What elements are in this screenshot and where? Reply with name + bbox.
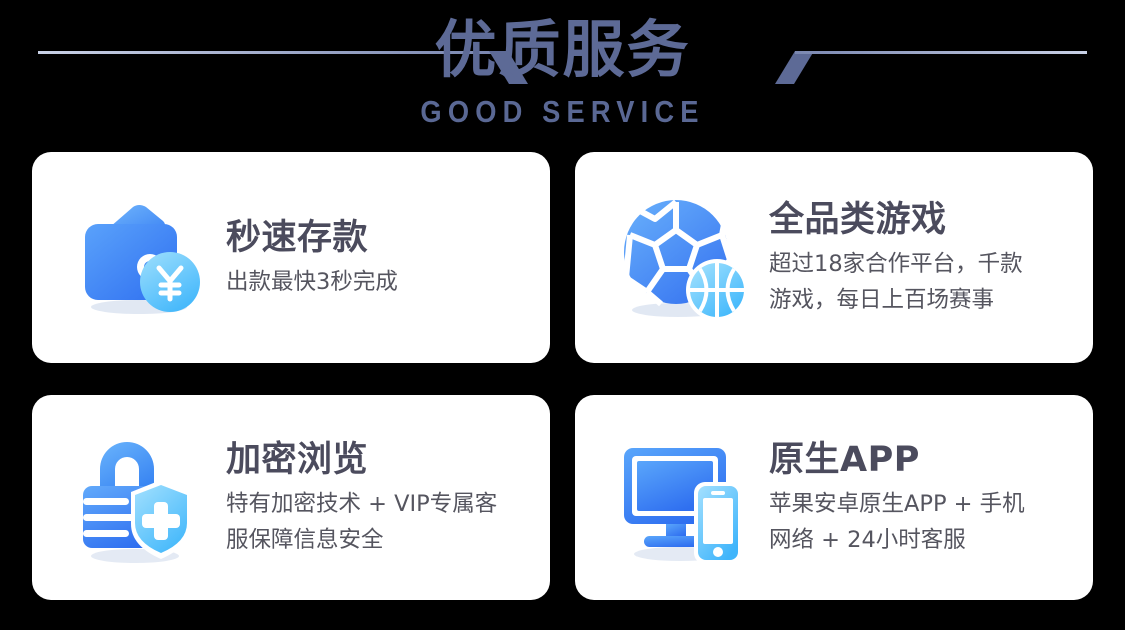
- header-title-block: 优质服务 GOOD SERVICE: [0, 0, 1125, 131]
- card-subtitle-line: 游戏，每日上百场赛事: [769, 282, 1079, 318]
- card-title: 原生APP: [769, 437, 1079, 483]
- card-subtitle: 超过18家合作平台，千款 游戏，每日上百场赛事: [769, 246, 1079, 318]
- page-header: 优质服务 GOOD SERVICE: [0, 0, 1125, 146]
- card-text-block: 加密浏览 特有加密技术 + VIP专属客 服保障信息安全: [218, 437, 550, 558]
- lock-shield-icon: [68, 423, 218, 573]
- card-subtitle-line: 出款最快3秒完成: [226, 264, 536, 300]
- card-subtitle: 苹果安卓原生APP + 手机 网络 + 24小时客服: [769, 486, 1079, 558]
- card-subtitle-line: 特有加密技术 + VIP专属客: [226, 486, 536, 522]
- card-text-block: 秒速存款 出款最快3秒完成: [218, 215, 550, 300]
- card-subtitle-line: 苹果安卓原生APP + 手机: [769, 486, 1079, 522]
- card-subtitle-line: 服保障信息安全: [226, 522, 536, 558]
- card-text-block: 原生APP 苹果安卓原生APP + 手机 网络 + 24小时客服: [761, 437, 1093, 558]
- card-title: 秒速存款: [226, 215, 536, 261]
- card-text-block: 全品类游戏 超过18家合作平台，千款 游戏，每日上百场赛事: [761, 197, 1093, 318]
- card-subtitle-line: 超过18家合作平台，千款: [769, 246, 1079, 282]
- card-title: 加密浏览: [226, 437, 536, 483]
- feature-card-games[interactable]: 全品类游戏 超过18家合作平台，千款 游戏，每日上百场赛事: [575, 152, 1093, 363]
- monitor-phone-icon: [611, 423, 761, 573]
- card-title: 全品类游戏: [769, 197, 1079, 243]
- feature-card-encryption[interactable]: 加密浏览 特有加密技术 + VIP专属客 服保障信息安全: [32, 395, 550, 600]
- page-subtitle: GOOD SERVICE: [68, 93, 1058, 131]
- card-subtitle: 出款最快3秒完成: [226, 264, 536, 300]
- page-title: 优质服务: [0, 0, 1125, 93]
- card-subtitle-line: 网络 + 24小时客服: [769, 522, 1079, 558]
- feature-card-deposit[interactable]: 秒速存款 出款最快3秒完成: [32, 152, 550, 363]
- feature-card-native-app[interactable]: 原生APP 苹果安卓原生APP + 手机 网络 + 24小时客服: [575, 395, 1093, 600]
- soccer-basketball-icon: [611, 188, 761, 328]
- wallet-yen-icon: [68, 188, 218, 328]
- card-subtitle: 特有加密技术 + VIP专属客 服保障信息安全: [226, 486, 536, 558]
- feature-card-grid: 秒速存款 出款最快3秒完成: [32, 152, 1093, 600]
